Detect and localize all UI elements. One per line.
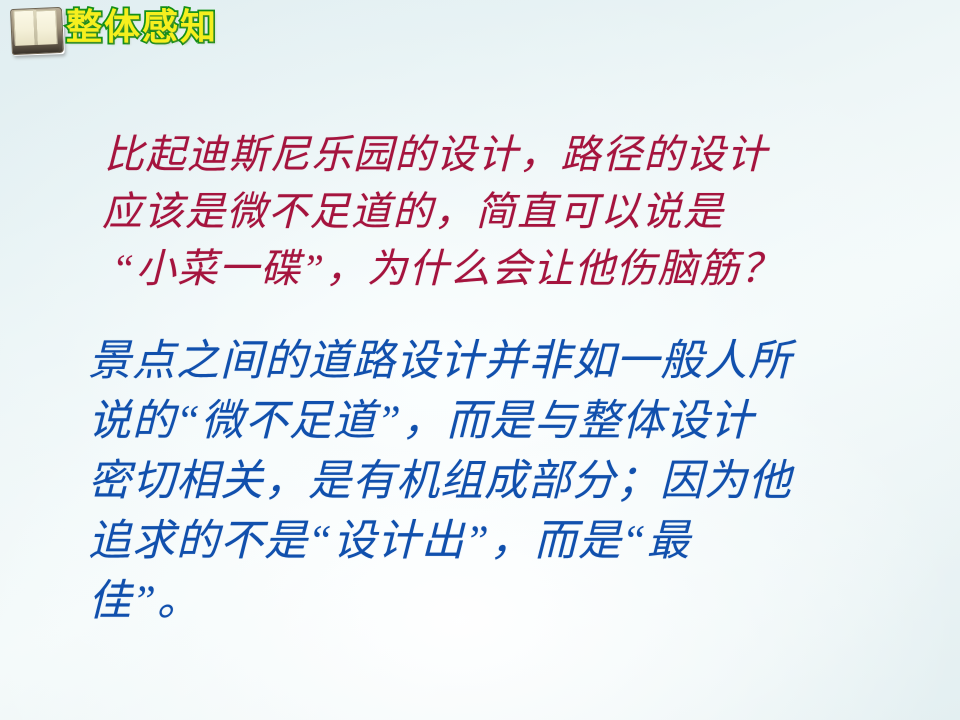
header-badge: 整体感知: [0, 0, 300, 60]
question-paragraph: 比起迪斯尼乐园的设计，路径的设计 应该是微不足道的，简直可以说是 “小菜一碟”，…: [100, 126, 782, 297]
answer-line-3: 密切相关，是有机组成部分；因为他: [88, 452, 792, 512]
page-title: 整体感知: [66, 4, 218, 52]
answer-line-5: 佳”。: [88, 572, 792, 632]
answer-paragraph: 景点之间的道路设计并非如一般人所 说的“微不足道”，而是与整体设计 密切相关，是…: [88, 332, 792, 632]
open-book-icon: [8, 6, 66, 56]
question-line-1: 比起迪斯尼乐园的设计，路径的设计: [100, 126, 782, 183]
slide-canvas: 整体感知 比起迪斯尼乐园的设计，路径的设计 应该是微不足道的，简直可以说是 “小…: [0, 0, 960, 720]
answer-line-4: 追求的不是“设计出”，而是“最: [88, 512, 792, 572]
question-line-2: 应该是微不足道的，简直可以说是: [100, 183, 782, 240]
answer-line-1: 景点之间的道路设计并非如一般人所: [88, 332, 792, 392]
book-page-left: [13, 10, 36, 48]
book-page-right: [35, 10, 58, 48]
question-line-3: “小菜一碟”，为什么会让他伤脑筋？: [100, 240, 782, 297]
answer-line-2: 说的“微不足道”，而是与整体设计: [88, 392, 792, 452]
